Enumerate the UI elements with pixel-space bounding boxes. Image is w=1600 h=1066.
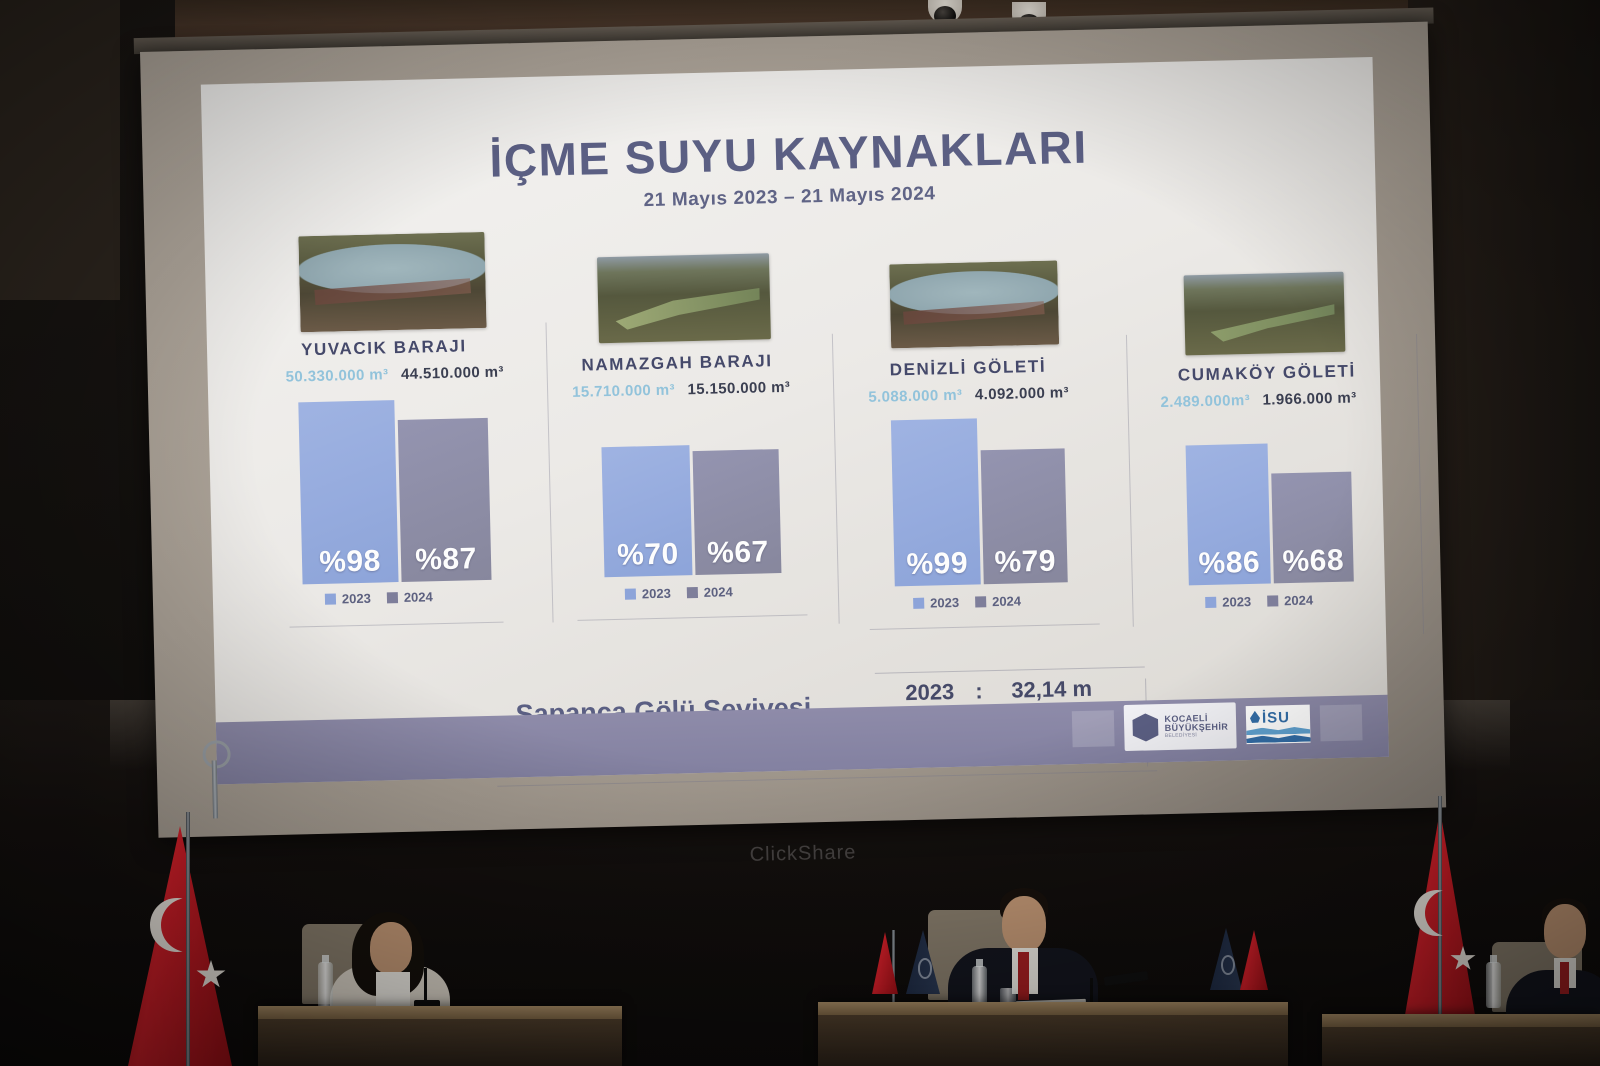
legend-label-2023: 2023 [342,591,371,607]
legend-label-2024: 2024 [1284,593,1313,609]
water-bottle [1486,962,1501,1008]
legend-item-2023: 2023 [625,586,671,602]
legend-swatch-2024 [975,596,986,607]
legend-swatch-2023 [325,594,336,605]
thumbnail-namazgah [597,253,771,343]
crescent-icon [1414,890,1460,936]
panel-title: NAMAZGAH BARAJI [581,351,773,375]
sapanca-value: 32,14 m [1011,676,1092,704]
water-bottle [318,962,333,1008]
footer-logos: KOCAELİ BÜYÜKŞEHİR BELEDİYESİ İSU [1072,699,1363,752]
projection-screen: İÇME SUYU KAYNAKLARI 21 Mayıs 2023 – 21 … [140,22,1448,842]
bar-group: %98 %87 [298,394,491,584]
bar-group: %99 %79 [891,412,1068,586]
bar-label-2023: %99 [894,546,981,582]
chart-panel-yuvacik: YUVACIK BARAJI 50.330.000 m³ 44.510.000 … [281,243,521,249]
legend-label-2023: 2023 [642,586,671,602]
volume-2024: 4.092.000 m³ [975,384,1069,403]
legend-item-2024: 2024 [1267,593,1313,609]
logo-placeholder [1072,710,1115,747]
legend-swatch-2023 [625,588,636,599]
bar-2024[interactable]: %68 [1271,472,1354,584]
conference-room: İÇME SUYU KAYNAKLARI 21 Mayıs 2023 – 21 … [0,0,1600,1066]
panel-underline [290,622,504,628]
bar-label-2023: %70 [604,537,693,573]
desk-left [258,1006,622,1066]
legend-item-2023: 2023 [1205,594,1251,610]
wave-icon [1246,735,1310,744]
logo-isu: İSU [1246,705,1311,744]
sapanca-lake-level-block: Sapanca Gölü Seviyesi 2023 : 32,14 m 202… [515,674,1155,689]
legend-item-2024: 2024 [387,589,433,605]
desk-center [818,1002,1288,1066]
necktie [1018,952,1029,1000]
wave-icon [1246,727,1310,736]
thumbnail-cumakoy [1184,272,1346,356]
legend-swatch-2023 [913,598,924,609]
panel-underline [577,614,807,620]
legend-item-2024: 2024 [975,593,1021,609]
volume-2024: 1.966.000 m³ [1262,389,1356,408]
logo-isu-text: İSU [1262,709,1290,727]
desk-surface [258,1006,622,1019]
legend-swatch-2024 [387,592,398,603]
legend-label-2023: 2023 [1222,594,1251,610]
panel-volumes: 2.489.000m³ 1.966.000 m³ [1160,389,1356,411]
chart-legend: 2023 2024 [325,589,433,607]
bar-group: %86 %68 [1185,438,1353,586]
panel-divider [832,334,840,624]
volume-2024: 15.150.000 m³ [687,379,790,398]
necktie [1560,962,1569,994]
bar-label-2024: %79 [983,544,1068,580]
volume-2024: 44.510.000 m³ [401,364,504,383]
volume-2023: 2.489.000m³ [1160,392,1250,411]
panel-title: DENİZLİ GÖLETİ [889,357,1046,381]
legend-label-2024: 2024 [404,589,433,605]
chart-legend: 2023 2024 [1205,593,1313,611]
legend-swatch-2024 [1267,595,1278,606]
slide-footer-band: KOCAELİ BÜYÜKŞEHİR BELEDİYESİ İSU [216,695,1389,785]
panel-divider [545,322,553,622]
legend-item-2023: 2023 [325,591,371,607]
bar-2023[interactable]: %99 [891,418,981,586]
chart-legend: 2023 2024 [625,584,733,602]
logo-kocaeli-buyuksehir: KOCAELİ BÜYÜKŞEHİR BELEDİYESİ [1124,702,1237,751]
legend-item-2023: 2023 [913,595,959,611]
thumbnail-denizli [889,260,1059,348]
bar-group: %70 %67 [601,427,781,577]
legend-swatch-2023 [1205,597,1216,608]
wall-panel [0,0,120,300]
panel-title: CUMAKÖY GÖLETİ [1178,361,1356,385]
divider-line [875,666,1145,673]
bar-label-2024: %68 [1273,544,1354,580]
legend-item-2024: 2024 [687,584,733,600]
desk-right [1322,1014,1600,1066]
logo-line-3: BELEDİYESİ [1165,732,1229,739]
panel-divider [1126,335,1134,627]
panel-title: YUVACIK BARAJI [301,336,467,360]
volume-2023: 5.088.000 m³ [868,387,962,406]
bar-2024[interactable]: %79 [981,448,1068,584]
bar-label-2023: %98 [302,544,399,580]
kocaeli-emblem-icon [1132,713,1159,742]
volume-2023: 50.330.000 m³ [286,366,389,385]
panel-underline [870,624,1100,630]
panel-volumes: 15.710.000 m³ 15.150.000 m³ [572,379,790,401]
panel-volumes: 5.088.000 m³ 4.092.000 m³ [868,384,1069,406]
chart-panel-namazgah: NAMAZGAH BARAJI 15.710.000 m³ 15.150.000… [573,266,813,272]
sapanca-separator: : [975,678,1012,705]
sapanca-year: 2023 [905,679,976,707]
crescent-icon [150,898,204,952]
bar-2024[interactable]: %67 [693,449,782,575]
bar-2023[interactable]: %70 [601,445,692,577]
presentation-slide: İÇME SUYU KAYNAKLARI 21 Mayıs 2023 – 21 … [201,57,1389,784]
legend-label-2024: 2024 [704,584,733,600]
bar-2024[interactable]: %87 [398,418,492,582]
chart-legend: 2023 2024 [913,593,1021,611]
panel-divider [1416,334,1424,634]
bar-2023[interactable]: %98 [298,400,398,584]
water-drop-icon [1250,711,1260,723]
chart-panel-denizli: DENİZLİ GÖLETİ 5.088.000 m³ 4.092.000 m³… [866,277,1106,283]
panel-volumes: 50.330.000 m³ 44.510.000 m³ [286,364,504,386]
bar-label-2024: %67 [695,535,782,571]
legend-label-2023: 2023 [930,595,959,611]
logo-placeholder [1320,704,1363,741]
screen-surface: İÇME SUYU KAYNAKLARI 21 Mayıs 2023 – 21 … [140,22,1446,838]
legend-swatch-2024 [687,587,698,598]
legend-label-2024: 2024 [992,593,1021,609]
volume-2023: 15.710.000 m³ [572,381,675,400]
chart-panel-cumakoy: CUMAKÖY GÖLETİ 2.489.000m³ 1.966.000 m³ … [1158,289,1388,294]
thumbnail-yuvacik [298,232,486,332]
desk-surface [818,1002,1288,1015]
bar-label-2024: %87 [401,542,492,578]
bar-2023[interactable]: %86 [1186,444,1271,586]
desk-surface [1322,1014,1600,1027]
bar-label-2023: %86 [1188,546,1271,582]
